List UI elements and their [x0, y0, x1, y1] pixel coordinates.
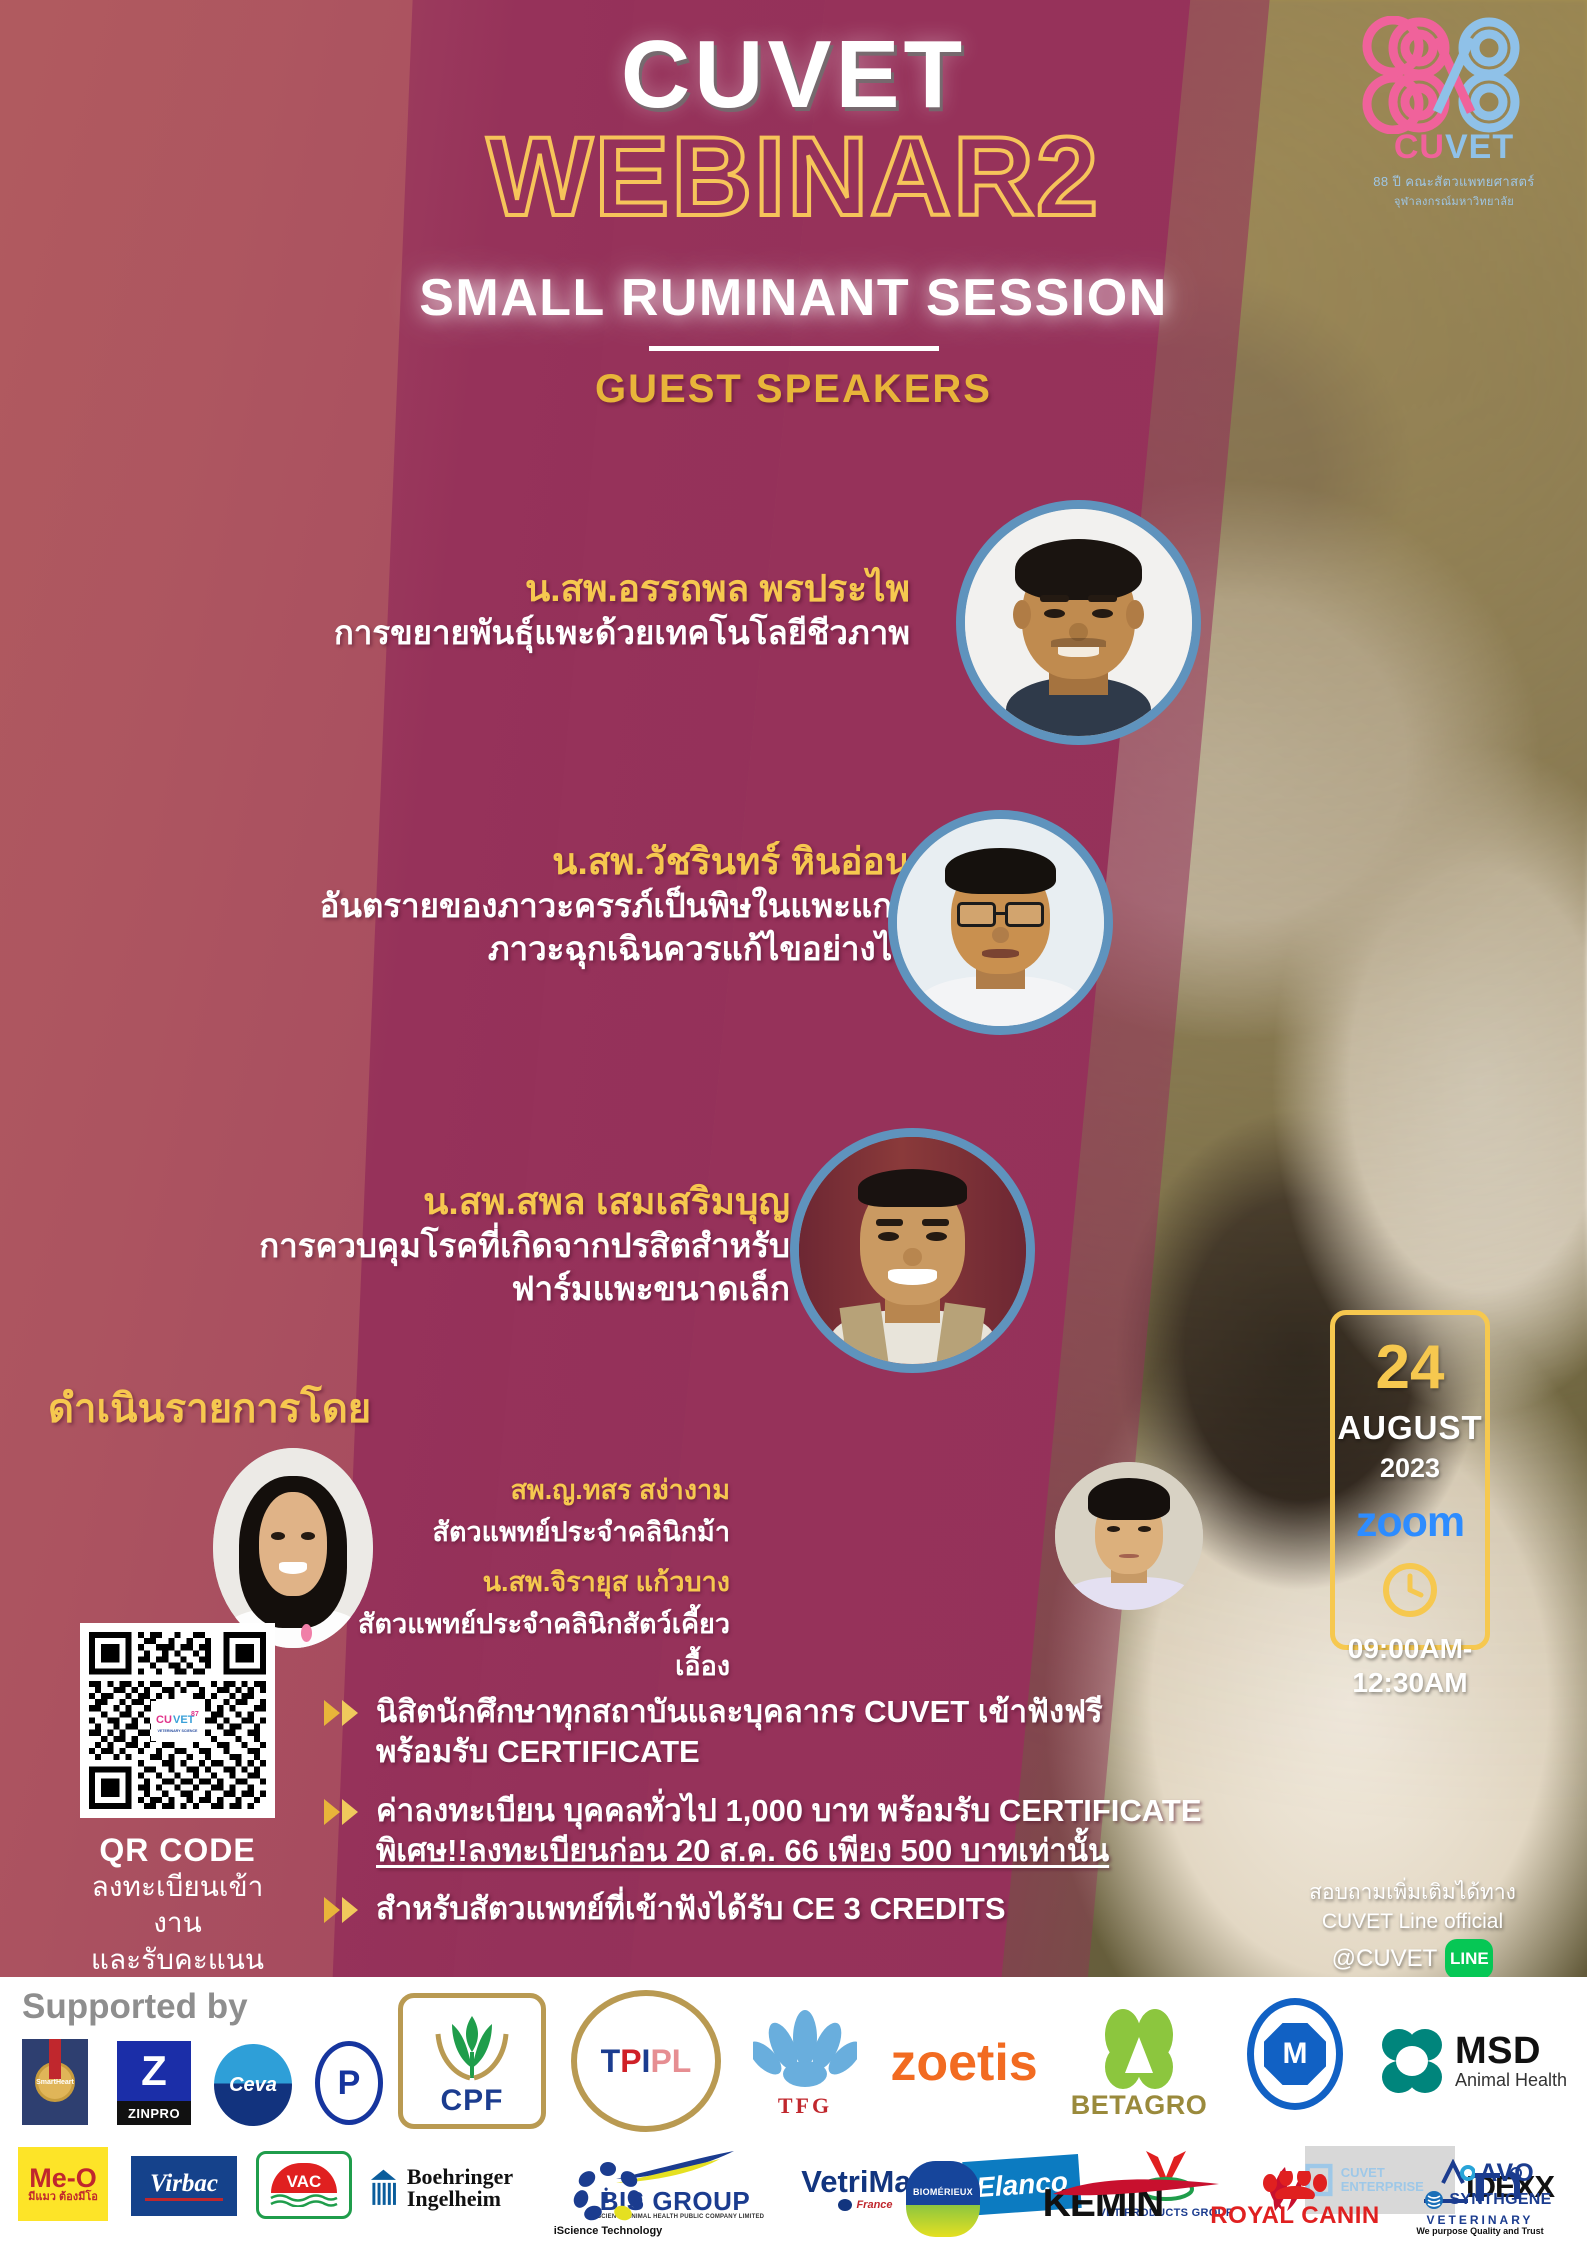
speaker-3-text: น.สพ.สพล เสมเสริมบุญ การควบคุมโรคที่เกิด…: [100, 1178, 790, 1311]
sponsor-logo-msd: MSD Animal Health: [1368, 2009, 1578, 2113]
logo-thai-line-2: จุฬาลงกรณ์มหาวิทยาลัย: [1349, 192, 1559, 210]
sponsor-logo-zinpro: Z ZINPRO: [112, 2039, 196, 2127]
moderator-1-text: สพ.ญ.ทสร สง่างาม สัตวแพทย์ประจำคลินิกม้า: [430, 1470, 730, 1554]
sponsor-logo-grid-row-3: i iScience Technology BIOMÉRIEUX KEMIN: [0, 2157, 1587, 2245]
speaker-3-photo: [790, 1128, 1035, 1373]
bullet-item-3: สำหรับสัตวแพทย์ที่เข้าฟังได้รับ CE 3 CRE…: [322, 1889, 1242, 1930]
zoom-logo: zoom: [1335, 1498, 1485, 1547]
svg-text:CU: CU: [156, 1714, 172, 1726]
speaker-3-topic-line-1: การควบคุมโรคที่เกิดจากปรสิตสำหรับ: [100, 1225, 790, 1268]
speaker-3-portrait: [799, 1137, 1026, 1364]
speaker-2-photo: [888, 810, 1113, 1035]
cuvet-88-logo: CUVET 88 ปี คณะสัตวแพทยศาสตร์ จุฬาลงกรณ์…: [1349, 16, 1559, 210]
qr-section: CU VET 87 VETERINARY SCIENCE QR CODE ลงท…: [70, 1623, 285, 2015]
sponsor-logo-cpf: CPF: [396, 1991, 548, 2131]
bullet-1-line-1: นิสิตนักศึกษาทุกสถาบันและบุคลากร CUVET เ…: [376, 1692, 1103, 1732]
qr-caption-line-1: ลงทะเบียนเข้างาน: [70, 1869, 285, 1942]
event-year: 2023: [1335, 1453, 1485, 1484]
logo-wordmark: CUVET: [1349, 128, 1559, 167]
guest-speakers-label: GUEST SPEAKERS: [0, 367, 1587, 412]
moderator-2-portrait: [1055, 1462, 1203, 1610]
clock-icon: [1335, 1561, 1485, 1624]
speaker-1-text: น.สพ.อรรถพล พรประไพ การขยายพันธุ์แพะด้วย…: [180, 565, 910, 655]
speaker-1-portrait: [965, 509, 1192, 736]
moderator-2-role: สัตวแพทย์ประจำคลินิกสัตว์เคี้ยวเอื้อง: [330, 1604, 730, 1688]
speaker-2-topic-line-1: อันตรายของภาวะครรภ์เป็นพิษในแพะแกะ: [170, 885, 910, 928]
svg-text:87: 87: [191, 1711, 199, 1718]
header-divider: [649, 346, 939, 351]
sponsor-logo-avo-synthgene: AVO SYNTHGENE: [1403, 2159, 1573, 2239]
bullet-item-2: ค่าลงทะเบียน บุคคลทั่วไป 1,000 บาท พร้อม…: [322, 1791, 1242, 1872]
double-chevron-right-icon: [322, 1889, 362, 1930]
sponsor-logo-tfg: TFG: [742, 1997, 868, 2127]
iscience-mark-icon: i: [569, 2161, 647, 2221]
bullet-list: นิสิตนักศึกษาทุกสถาบันและบุคลากร CUVET เ…: [322, 1692, 1242, 1948]
bullet-1-line-2: พร้อมรับ CERTIFICATE: [376, 1732, 1103, 1772]
session-subtitle: SMALL RUMINANT SESSION: [0, 268, 1587, 328]
event-month: AUGUST: [1335, 1409, 1485, 1447]
synthgene-mark-icon: [1424, 2190, 1444, 2210]
contact-handle-row: @CUVET LINE: [1295, 1939, 1530, 1979]
bullet-3-line-1: สำหรับสัตวแพทย์ที่เข้าฟังได้รับ CE 3 CRE…: [376, 1889, 1006, 1929]
chevron-glyph: [322, 1797, 362, 1827]
logo-word-vet: VET: [1445, 128, 1514, 166]
sponsor-biomerieux-text: BIOMÉRIEUX: [913, 2188, 973, 2197]
qr-code[interactable]: CU VET 87 VETERINARY SCIENCE: [80, 1623, 275, 1818]
speaker-2-portrait: [897, 819, 1104, 1026]
qr-cuvet-mark: CU VET 87: [155, 1709, 201, 1729]
logo-word-cu: CU: [1394, 128, 1445, 166]
bullet-2-line-1: ค่าลงทะเบียน บุคคลทั่วไป 1,000 บาท พร้อม…: [376, 1791, 1202, 1831]
speaker-1-photo: [956, 500, 1201, 745]
contact-line-1: สอบถามเพิ่มเติมได้ทาง: [1295, 1878, 1530, 1907]
bullet-3-thai: สำหรับสัตวแพทย์ที่เข้าฟังได้รับ CE 3 CRE…: [376, 1891, 1006, 1926]
event-time-line-2: 12:30AM: [1335, 1666, 1485, 1700]
sponsor-logo-zoetis: zoetis: [880, 2023, 1048, 2103]
speaker-2-topic-line-2: ภาวะฉุกเฉินควรแก้ไขอย่างไร: [170, 928, 910, 971]
moderator-2-photo: [1055, 1462, 1203, 1610]
kemin-swoosh-icon: [1049, 2174, 1225, 2200]
sponsor-zoetis-text: zoetis: [890, 2037, 1037, 2089]
contact-handle: @CUVET: [1332, 1942, 1438, 1976]
msd-mark-icon: [1379, 2027, 1445, 2095]
sponsor-avo-text: AVO: [1479, 2161, 1534, 2186]
sponsor-logo-tpipl: T P I PL: [566, 1987, 726, 2135]
sponsor-logo-ceva: Ceva: [208, 2043, 298, 2127]
sponsor-royal-canin-text: ROYAL CANIN: [1210, 2204, 1380, 2228]
betagro-leaf-icon: [1091, 2007, 1187, 2091]
sponsor-logo-biomerieux: BIOMÉRIEUX: [880, 2159, 1006, 2239]
event-day: 24: [1335, 1337, 1485, 1399]
speaker-3-name: น.สพ.สพล เสมเสริมบุญ: [100, 1178, 790, 1225]
moderator-2-name: น.สพ.จิรายุส แก้วบาง: [330, 1562, 730, 1604]
speaker-1-topic-line-1: การขยายพันธุ์แพะด้วยเทคโนโลยีชีวภาพ: [180, 612, 910, 655]
sponsor-cpf-text: CPF: [441, 2086, 504, 2116]
sponsor-logo-kemin: KEMIN: [1010, 2171, 1196, 2235]
cpf-wheat-icon: [424, 2006, 520, 2084]
sponsor-iscience-text: iScience Technology: [554, 2226, 663, 2237]
sponsor-ceva-text: Ceva: [229, 2075, 277, 2095]
moderator-2-text: น.สพ.จิรายุส แก้วบาง สัตวแพทย์ประจำคลินิ…: [330, 1562, 730, 1688]
avo-mark-icon: [1441, 2159, 1475, 2187]
88-infinity-mark: [1359, 16, 1549, 134]
webinar-poster: CUVET 88 ปี คณะสัตวแพทยศาสตร์ จุฬาลงกรณ์…: [0, 0, 1587, 2245]
sponsor-logo-perfect-companion: P: [308, 2039, 390, 2127]
event-date-box: 24 AUGUST 2023 zoom 09:00AM- 12:30AM: [1330, 1310, 1490, 1650]
royal-canin-paw-icon: [1256, 2171, 1334, 2199]
tfg-lotus-icon: [753, 2008, 857, 2090]
sponsor-logo-smartheart: SmartHeart: [18, 2037, 92, 2127]
sponsor-logo-betagro: BETAGRO: [1055, 1995, 1223, 2131]
sponsor-logo-royal-canin: ROYAL CANIN: [1200, 2159, 1390, 2239]
sponsor-p-text: P: [338, 2066, 361, 2100]
chevron-glyph: [322, 1698, 362, 1728]
sponsor-betagro-text: BETAGRO: [1071, 2092, 1208, 2119]
contact-line-2: CUVET Line official: [1295, 1907, 1530, 1936]
speaker-1-name: น.สพ.อรรถพล พรประไพ: [180, 565, 910, 612]
speaker-2-text: น.สพ.วัชรินทร์ หินอ่อน อันตรายของภาวะครร…: [170, 838, 910, 971]
sponsor-logo-iscience-technology: i iScience Technology: [528, 2157, 688, 2241]
chevron-glyph: [322, 1895, 362, 1925]
qr-caption-title: QR CODE: [70, 1832, 285, 1869]
qr-center-logo: CU VET 87 VETERINARY SCIENCE: [151, 1701, 205, 1741]
logo-thai-line-1: 88 ปี คณะสัตวแพทยศาสตร์: [1349, 171, 1559, 192]
sponsor-logo-m: M: [1240, 1995, 1350, 2113]
moderator-1-name: สพ.ญ.ทสร สง่างาม: [430, 1470, 730, 1512]
sponsor-smartheart-text: SmartHeart: [36, 2079, 74, 2086]
moderator-heading: ดำเนินรายการโดย: [48, 1376, 371, 1440]
bullet-item-1: นิสิตนักศึกษาทุกสถาบันและบุคลากร CUVET เ…: [322, 1692, 1242, 1773]
event-time-line-1: 09:00AM-: [1335, 1632, 1485, 1666]
sponsor-bar: Supported by SmartHeart Z ZINPRO: [0, 1977, 1587, 2245]
speaker-3-topic-line-2: ฟาร์มแพะขนาดเล็ก: [100, 1268, 790, 1311]
contact-section: สอบถามเพิ่มเติมได้ทาง CUVET Line officia…: [1295, 1878, 1530, 1979]
double-chevron-right-icon: [322, 1692, 362, 1733]
sponsor-msd-text: MSD: [1455, 2032, 1567, 2070]
line-app-badge[interactable]: LINE: [1445, 1939, 1493, 1979]
svg-text:i: i: [603, 2183, 609, 2208]
bullet-2-line-2: พิเศษ!!ลงทะเบียนก่อน 20 ส.ค. 66 เพียง 50…: [376, 1831, 1202, 1871]
double-chevron-right-icon: [322, 1791, 362, 1832]
clock-glyph: [1381, 1561, 1439, 1619]
sponsor-m-text: M: [1283, 2039, 1308, 2069]
sponsor-tfg-text: TFG: [753, 2095, 857, 2117]
sponsor-msd-sub-text: Animal Health: [1455, 2070, 1567, 2091]
moderator-1-role: สัตวแพทย์ประจำคลินิกม้า: [430, 1512, 730, 1554]
sponsor-zinpro-text: ZINPRO: [128, 2107, 180, 2120]
sponsor-synthgene-text: SYNTHGENE: [1449, 2192, 1551, 2208]
speaker-2-name: น.สพ.วัชรินทร์ หินอ่อน: [170, 838, 910, 885]
